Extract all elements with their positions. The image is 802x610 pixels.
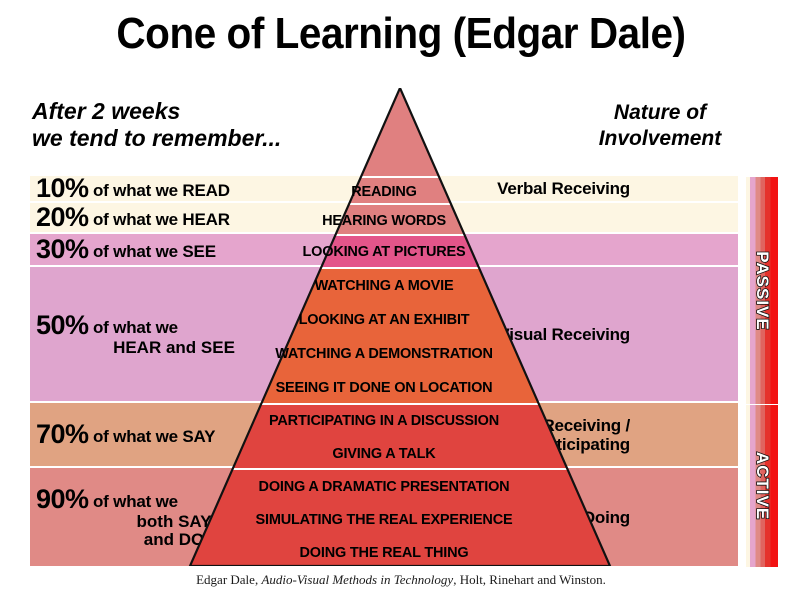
left-column-heading: After 2 weeks we tend to remember... (32, 98, 392, 152)
percent-desc-50-line2: HEAR and SEE (36, 339, 286, 357)
percent-value-20: 20% (36, 202, 89, 232)
cone-chart: 10% of what we READ Verbal Receiving 20%… (30, 176, 738, 566)
percent-value-90: 90% (36, 484, 89, 514)
percent-desc-90-line2: both SAY (36, 513, 286, 531)
percent-value-50: 50% (36, 310, 89, 340)
row-band-20: 20% of what we HEAR (30, 203, 738, 234)
percent-desc-10: of what we READ (93, 181, 230, 200)
involvement-bar-passive: PASSIVE (746, 176, 778, 405)
row-band-90: 90% of what we both SAY and DO Doing (30, 468, 738, 566)
passive-label: PASSIVE (752, 251, 772, 330)
left-heading-line2: we tend to remember... (32, 125, 392, 152)
nature-label-20 (420, 203, 630, 232)
citation-author: Edgar Dale, (196, 572, 261, 587)
percent-desc-90-line3: and DO (36, 531, 286, 549)
retention-label-70: 70% of what we SAY (36, 403, 286, 466)
nature-label-90: Doing (420, 468, 630, 566)
percent-desc-20: of what we HEAR (93, 210, 230, 229)
right-column-heading: Nature of Involvement (560, 100, 760, 152)
percent-desc-90: of what we (93, 492, 178, 511)
nature-label-70: Receiving / Participating (420, 403, 630, 466)
page-title: Cone of Learning (Edgar Dale) (32, 8, 770, 60)
retention-label-90: 90% of what we both SAY and DO (36, 468, 286, 566)
percent-desc-70: of what we SAY (93, 427, 215, 446)
retention-label-10: 10% of what we READ (36, 176, 286, 201)
nature-label-10: Verbal Receiving (420, 176, 630, 201)
active-label: ACTIVE (752, 452, 772, 520)
retention-label-50: 50% of what we HEAR and SEE (36, 267, 286, 401)
nature-label-50: Visual Receiving (420, 267, 630, 401)
involvement-bar-active: ACTIVE (746, 404, 778, 568)
citation-publisher: , Holt, Rinehart and Winston. (453, 572, 606, 587)
percent-desc-50: of what we (93, 318, 178, 337)
percent-value-10: 10% (36, 173, 89, 203)
nature-70-line1: Receiving / (530, 416, 630, 435)
retention-label-20: 20% of what we HEAR (36, 203, 286, 232)
nature-label-30 (420, 234, 630, 265)
retention-label-30: 30% of what we SEE (36, 234, 286, 265)
row-band-50: 50% of what we HEAR and SEE Visual Recei… (30, 267, 738, 403)
citation: Edgar Dale, Audio-Visual Methods in Tech… (0, 572, 802, 588)
right-heading-line2: Involvement (560, 126, 760, 152)
row-band-30: 30% of what we SEE (30, 234, 738, 267)
nature-70-line2: Participating (530, 435, 630, 454)
row-band-10: 10% of what we READ Verbal Receiving (30, 176, 738, 203)
row-band-70: 70% of what we SAY Receiving / Participa… (30, 403, 738, 468)
percent-desc-30: of what we SEE (93, 242, 216, 261)
left-heading-line1: After 2 weeks (32, 98, 392, 125)
right-heading-line1: Nature of (560, 100, 760, 126)
citation-work: Audio-Visual Methods in Technology (261, 572, 453, 587)
percent-value-30: 30% (36, 234, 89, 264)
percent-value-70: 70% (36, 419, 89, 449)
